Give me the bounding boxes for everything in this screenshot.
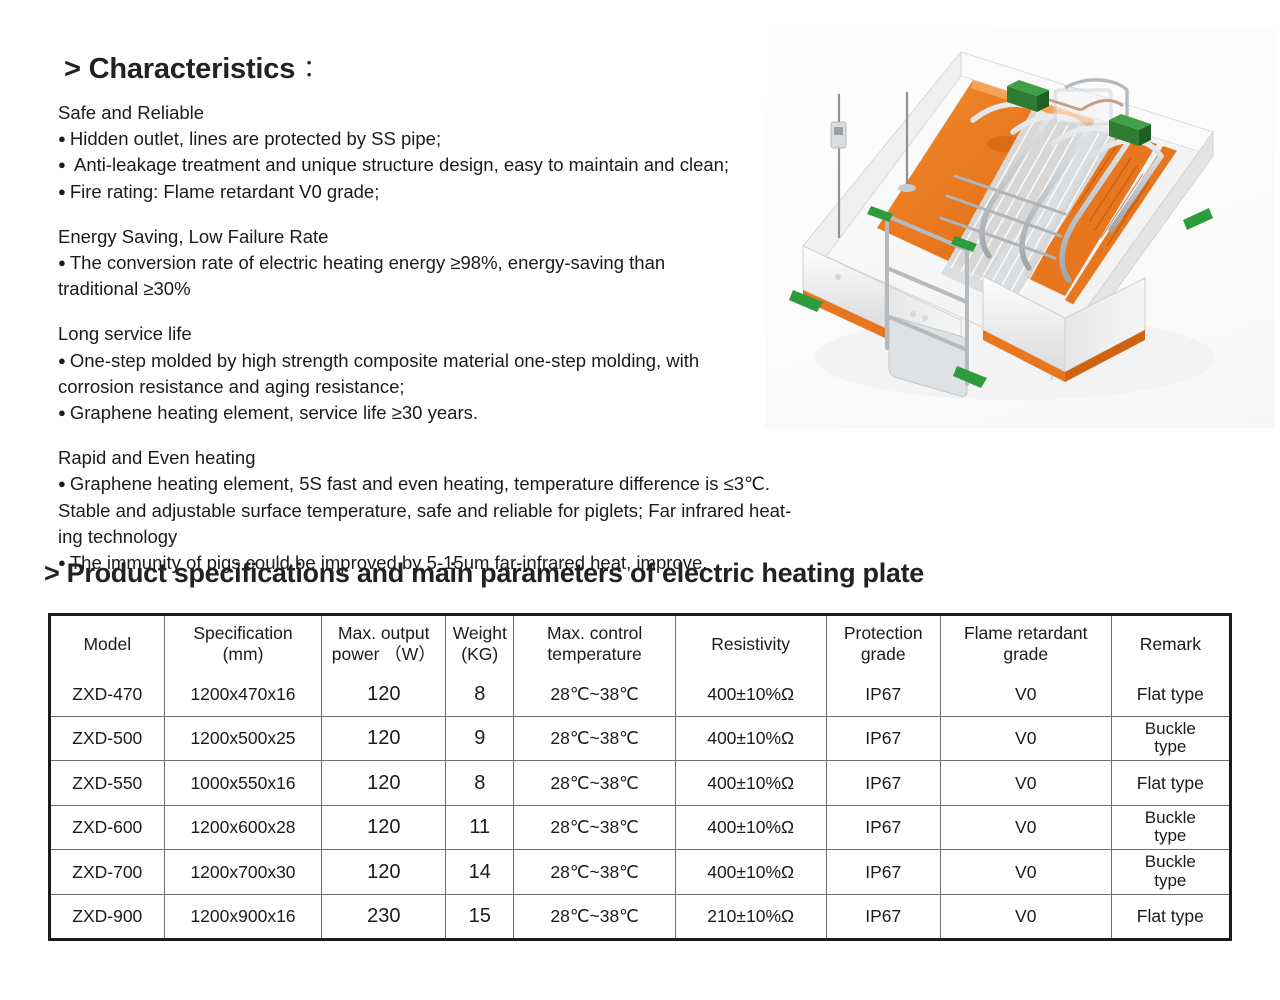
table-row: ZXD-4701200x470x16120828℃~38℃400±10%ΩIP6… [51,672,1229,716]
header-line-1: Flame retardant [943,623,1109,644]
cell-remark: Buckletype [1111,850,1229,895]
characteristics-bullet-line: ●Hidden outlet, lines are protected by S… [58,126,858,152]
bullet-icon: ● [58,353,70,368]
characteristics-group: Safe and Reliable●Hidden outlet, lines a… [58,100,858,205]
cell-specification: 1200x500x25 [164,716,322,761]
cell-max-control-temperature: 28℃~38℃ [514,894,675,938]
bullet-icon: ● [58,157,70,172]
characteristics-group: Long service life●One-step molded by hig… [58,321,858,426]
characteristics-group: Energy Saving, Low Failure Rate●The conv… [58,224,858,303]
cell-line: type [1114,827,1227,846]
cell-flame-retardant-grade: V0 [940,672,1111,716]
characteristics-bullet-line: ●Graphene heating element, service life … [58,400,858,426]
header-line-2: grade [829,644,938,665]
cell-max-control-temperature: 28℃~38℃ [514,850,675,895]
bullet-icon: ● [58,184,70,199]
characteristics-wrapped-line: corrosion resistance and aging resistanc… [58,374,858,400]
table-row: ZXD-5501000x550x16120828℃~38℃400±10%ΩIP6… [51,761,1229,806]
characteristics-line-text: Anti-leakage treatment and unique struct… [70,154,729,175]
spec-table-head: ModelSpecification(mm)Max. outputpower （… [51,616,1229,672]
spec-table-header-cell: Remark [1111,616,1229,672]
cell-model: ZXD-500 [51,716,164,761]
bullet-icon: ● [58,405,70,420]
characteristics-group: Rapid and Even heating●Graphene heating … [58,445,858,576]
cell-specification: 1200x600x28 [164,805,322,850]
characteristics-line-text: One-step molded by high strength composi… [70,350,699,371]
characteristics-line-text: Hidden outlet, lines are protected by SS… [70,128,441,149]
spec-table-header-row: ModelSpecification(mm)Max. outputpower （… [51,616,1229,672]
cell-flame-retardant-grade: V0 [940,805,1111,850]
cell-weight: 15 [446,894,514,938]
header-line-1: Remark [1114,634,1227,655]
specs-heading: > Product specifications and main parame… [44,558,924,589]
characteristics-line-text: traditional ≥30% [58,278,191,299]
characteristics-subtitle: Safe and Reliable [58,100,858,126]
characteristics-wrapped-line: traditional ≥30% [58,276,858,302]
characteristics-heading-colon: ： [295,55,327,82]
cell-model: ZXD-700 [51,850,164,895]
characteristics-line-text: The conversion rate of electric heating … [70,252,665,273]
cell-line: type [1114,738,1227,757]
cell-line: Buckle [1114,853,1227,872]
cell-resistivity: 400±10%Ω [675,716,826,761]
header-line-1: Protection [829,623,938,644]
characteristics-line-text: Stable and adjustable surface temperatur… [58,500,791,521]
table-row: ZXD-6001200x600x281201128℃~38℃400±10%ΩIP… [51,805,1229,850]
cell-model: ZXD-470 [51,672,164,716]
cell-max-output-power: 120 [322,716,446,761]
cell-resistivity: 210±10%Ω [675,894,826,938]
cell-protection-grade: IP67 [826,716,940,761]
characteristics-line-text: ing technology [58,526,177,547]
cell-resistivity: 400±10%Ω [675,850,826,895]
spec-table-body: ZXD-4701200x470x16120828℃~38℃400±10%ΩIP6… [51,672,1229,938]
characteristics-wrapped-line: Stable and adjustable surface temperatur… [58,498,858,524]
cell-line: Buckle [1114,720,1227,739]
spec-table-header-cell: Model [51,616,164,672]
farrowing-crate-illustration [765,28,1275,428]
cell-specification: 1200x700x30 [164,850,322,895]
cell-protection-grade: IP67 [826,672,940,716]
cell-flame-retardant-grade: V0 [940,894,1111,938]
header-line-1: Resistivity [678,634,824,655]
cell-flame-retardant-grade: V0 [940,716,1111,761]
header-line-2: grade [943,644,1109,665]
cell-resistivity: 400±10%Ω [675,761,826,806]
characteristics-line-text: corrosion resistance and aging resistanc… [58,376,405,397]
characteristics-wrapped-line: ing technology [58,524,858,550]
characteristics-subtitle: Rapid and Even heating [58,445,858,471]
cell-max-control-temperature: 28℃~38℃ [514,672,675,716]
cell-weight: 8 [446,761,514,806]
spec-table-container: ModelSpecification(mm)Max. outputpower （… [48,613,1232,941]
cell-max-output-power: 230 [322,894,446,938]
cell-weight: 9 [446,716,514,761]
characteristics-line-text: Graphene heating element, service life ≥… [70,402,478,423]
header-line-2: power （W） [324,644,443,665]
header-line-1: Specification [167,623,320,644]
bullet-icon: ● [58,476,70,491]
table-row: ZXD-7001200x700x301201428℃~38℃400±10%ΩIP… [51,850,1229,895]
characteristics-subtitle: Energy Saving, Low Failure Rate [58,224,858,250]
spec-table-header-cell: Specification(mm) [164,616,322,672]
cell-model: ZXD-900 [51,894,164,938]
cell-specification: 1000x550x16 [164,761,322,806]
cell-protection-grade: IP67 [826,805,940,850]
product-image [765,28,1275,428]
spec-table-header-cell: Resistivity [675,616,826,672]
spec-table-header-cell: Max. outputpower （W） [322,616,446,672]
cell-max-output-power: 120 [322,805,446,850]
cell-max-output-power: 120 [322,672,446,716]
cell-max-output-power: 120 [322,850,446,895]
characteristics-line-text: Fire rating: Flame retardant V0 grade; [70,181,380,202]
bullet-icon: ● [58,131,70,146]
characteristics-subtitle: Long service life [58,321,858,347]
characteristics-heading: > Characteristics： [64,48,327,86]
cell-remark: Buckletype [1111,805,1229,850]
cell-remark: Flat type [1111,672,1229,716]
header-line-1: Model [53,634,162,655]
cell-max-control-temperature: 28℃~38℃ [514,716,675,761]
table-row: ZXD-9001200x900x162301528℃~38℃210±10%ΩIP… [51,894,1229,938]
table-row: ZXD-5001200x500x25120928℃~38℃400±10%ΩIP6… [51,716,1229,761]
cell-weight: 14 [446,850,514,895]
header-line-1: Max. output [324,623,443,644]
cell-line: Buckle [1114,809,1227,828]
cell-specification: 1200x470x16 [164,672,322,716]
characteristics-heading-text: > Characteristics [64,53,295,85]
cell-remark: Flat type [1111,761,1229,806]
characteristics-bullet-line: ●Graphene heating element, 5S fast and e… [58,471,858,497]
spec-table: ModelSpecification(mm)Max. outputpower （… [51,616,1229,938]
characteristics-body: Safe and Reliable●Hidden outlet, lines a… [58,100,858,576]
spec-table-header-cell: Max. controltemperature [514,616,675,672]
cell-remark: Flat type [1111,894,1229,938]
characteristics-line-text: Graphene heating element, 5S fast and ev… [70,473,770,494]
cell-max-control-temperature: 28℃~38℃ [514,761,675,806]
bullet-icon: ● [58,255,70,270]
cell-resistivity: 400±10%Ω [675,805,826,850]
spec-table-header-cell: Protectiongrade [826,616,940,672]
characteristics-bullet-line: ● Anti-leakage treatment and unique stru… [58,152,858,178]
cell-remark: Buckletype [1111,716,1229,761]
header-line-1: Weight [448,623,511,644]
cell-protection-grade: IP67 [826,761,940,806]
spec-table-header-cell: Flame retardantgrade [940,616,1111,672]
cell-protection-grade: IP67 [826,850,940,895]
characteristics-bullet-line: ●One-step molded by high strength compos… [58,348,858,374]
cell-weight: 11 [446,805,514,850]
header-line-1: Max. control [516,623,672,644]
cell-max-control-temperature: 28℃~38℃ [514,805,675,850]
characteristics-bullet-line: ●Fire rating: Flame retardant V0 grade; [58,179,858,205]
header-line-2: temperature [516,644,672,665]
cell-specification: 1200x900x16 [164,894,322,938]
characteristics-bullet-line: ●The conversion rate of electric heating… [58,250,858,276]
spec-table-header-cell: Weight(KG) [446,616,514,672]
cell-weight: 8 [446,672,514,716]
header-line-2: (KG) [448,644,511,665]
cell-model: ZXD-600 [51,805,164,850]
header-line-2: (mm) [167,644,320,665]
cell-flame-retardant-grade: V0 [940,761,1111,806]
cell-protection-grade: IP67 [826,894,940,938]
cell-line: type [1114,872,1227,891]
cell-max-output-power: 120 [322,761,446,806]
cell-flame-retardant-grade: V0 [940,850,1111,895]
cell-model: ZXD-550 [51,761,164,806]
cell-resistivity: 400±10%Ω [675,672,826,716]
